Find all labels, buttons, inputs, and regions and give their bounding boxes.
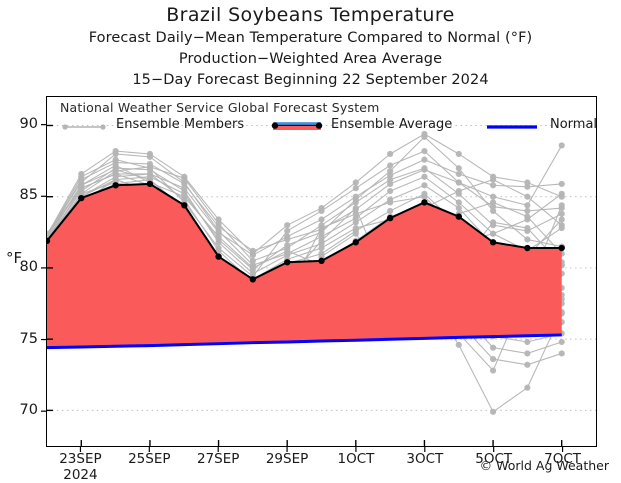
subtitle-line-2: Production−Weighted Area Average xyxy=(0,49,621,70)
x-tick-label: 3OCT xyxy=(390,451,460,467)
subtitle-line-3: 15−Day Forecast Beginning 22 September 2… xyxy=(0,70,621,91)
x-axis-year-label: 2024 xyxy=(45,467,115,483)
x-tick-label: 25SEP xyxy=(114,451,184,467)
copyright-credit: © World Ag Weather xyxy=(480,458,609,473)
plot-area xyxy=(46,96,597,447)
y-tick-label: 75 xyxy=(4,331,38,347)
y-tick-label: 90 xyxy=(4,116,38,132)
x-tick-label: 23SEP xyxy=(45,451,115,467)
y-tick-label: 85 xyxy=(4,187,38,203)
y-tick-label: 80 xyxy=(4,259,38,275)
chart-titles: Brazil Soybeans Temperature Forecast Dai… xyxy=(0,0,621,91)
subtitle-line-1: Forecast Daily−Mean Temperature Compared… xyxy=(0,28,621,49)
page-title: Brazil Soybeans Temperature xyxy=(0,4,621,28)
chart-svg xyxy=(47,97,596,446)
x-tick-label: 27SEP xyxy=(183,451,253,467)
chart-page: Brazil Soybeans Temperature Forecast Dai… xyxy=(0,0,621,483)
x-tick-label: 29SEP xyxy=(252,451,322,467)
x-tick-label: 1OCT xyxy=(321,451,391,467)
y-tick-label: 70 xyxy=(4,402,38,418)
